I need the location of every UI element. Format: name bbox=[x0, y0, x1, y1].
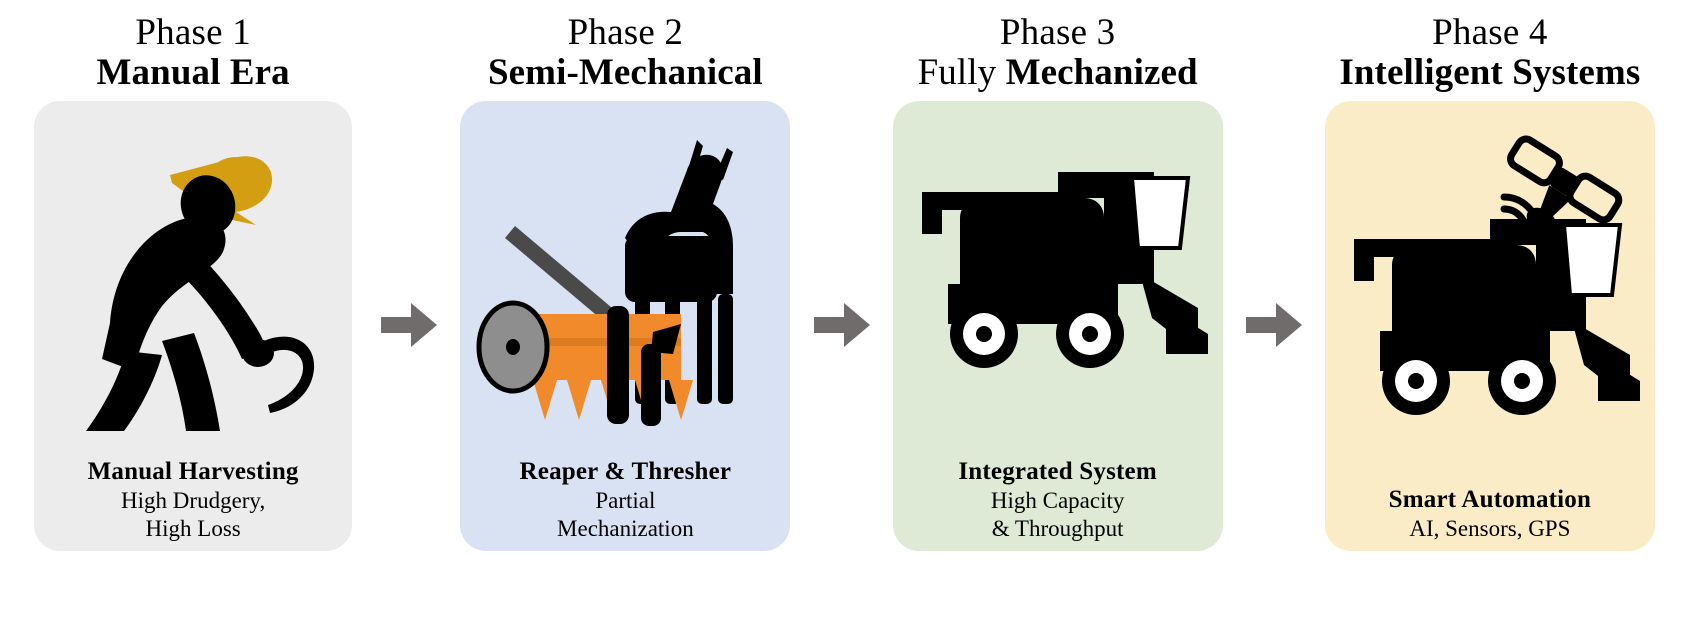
phase-name-light-3: Fully bbox=[918, 52, 1006, 93]
phase-column-1: Phase 1 Manual Era bbox=[8, 0, 378, 620]
phase-card-1[interactable]: Manual Harvesting High Drudgery, High Lo… bbox=[34, 101, 352, 551]
phase-name-3: Fully Mechanized bbox=[918, 54, 1198, 92]
phase-column-3: Phase 3 Fully Mechanized bbox=[873, 0, 1243, 620]
phase-number-1: Phase 1 bbox=[97, 14, 290, 52]
phase-heading-2: Phase 2 Semi-Mechanical bbox=[488, 14, 763, 93]
phase-art-3 bbox=[893, 101, 1223, 446]
phase-caption-line2-3: & Throughput bbox=[893, 515, 1223, 543]
phase-caption-title-4: Smart Automation bbox=[1325, 485, 1655, 515]
combine-harvester-icon bbox=[908, 158, 1208, 388]
arrow-right-icon bbox=[1246, 299, 1302, 351]
phase-caption-title-2: Reaper & Thresher bbox=[460, 457, 790, 487]
manual-farmer-sickle-icon bbox=[68, 113, 318, 433]
phase-heading-3: Phase 3 Fully Mechanized bbox=[918, 14, 1198, 93]
phase-art-1 bbox=[34, 101, 352, 446]
smart-harvester-satellite-icon bbox=[1340, 123, 1640, 423]
horse-drawn-reaper-icon bbox=[475, 108, 775, 438]
phase-name-2: Semi-Mechanical bbox=[488, 54, 763, 92]
phase-caption-4: Smart Automation AI, Sensors, GPS bbox=[1325, 485, 1655, 543]
arrow-right-icon bbox=[381, 299, 437, 351]
phase-name-1: Manual Era bbox=[97, 54, 290, 92]
phase-caption-1: Manual Harvesting High Drudgery, High Lo… bbox=[34, 457, 352, 543]
phase-caption-line2-1: High Loss bbox=[34, 515, 352, 543]
phase-caption-line1-4: AI, Sensors, GPS bbox=[1325, 515, 1655, 543]
phase-column-2: Phase 2 Semi-Mechanical bbox=[440, 0, 810, 620]
phase-name-bold-4: Intelligent Systems bbox=[1339, 52, 1640, 93]
phase-name-bold-1: Manual Era bbox=[97, 52, 290, 93]
phase-caption-line1-1: High Drudgery, bbox=[34, 487, 352, 515]
phase-name-bold-3: Mechanized bbox=[1006, 52, 1198, 93]
phase-card-4[interactable]: Smart Automation AI, Sensors, GPS bbox=[1325, 101, 1655, 551]
phase-name-bold-2: Semi-Mechanical bbox=[488, 52, 763, 93]
phase-caption-line1-2: Partial bbox=[460, 487, 790, 515]
phase-number-4: Phase 4 bbox=[1339, 14, 1640, 52]
phase-caption-3: Integrated System High Capacity & Throug… bbox=[893, 457, 1223, 543]
phase-column-4: Phase 4 Intelligent Systems bbox=[1305, 0, 1675, 620]
phase-card-3[interactable]: Integrated System High Capacity & Throug… bbox=[893, 101, 1223, 551]
phase-caption-line2-2: Mechanization bbox=[460, 515, 790, 543]
phase-caption-title-1: Manual Harvesting bbox=[34, 457, 352, 487]
phase-heading-1: Phase 1 Manual Era bbox=[97, 14, 290, 93]
phase-number-3: Phase 3 bbox=[918, 14, 1198, 52]
phase-caption-line1-3: High Capacity bbox=[893, 487, 1223, 515]
arrow-connector-1 bbox=[378, 0, 440, 620]
arrow-right-icon bbox=[814, 299, 870, 351]
phase-caption-2: Reaper & Thresher Partial Mechanization bbox=[460, 457, 790, 543]
phase-art-4 bbox=[1325, 101, 1655, 446]
phase-heading-4: Phase 4 Intelligent Systems bbox=[1339, 14, 1640, 93]
arrow-connector-2 bbox=[811, 0, 873, 620]
phase-card-2[interactable]: Reaper & Thresher Partial Mechanization bbox=[460, 101, 790, 551]
phase-art-2 bbox=[460, 101, 790, 446]
phase-caption-title-3: Integrated System bbox=[893, 457, 1223, 487]
phase-name-4: Intelligent Systems bbox=[1339, 54, 1640, 92]
phase-number-2: Phase 2 bbox=[488, 14, 763, 52]
arrow-connector-3 bbox=[1243, 0, 1305, 620]
phase-timeline-diagram: Phase 1 Manual Era bbox=[0, 0, 1683, 620]
